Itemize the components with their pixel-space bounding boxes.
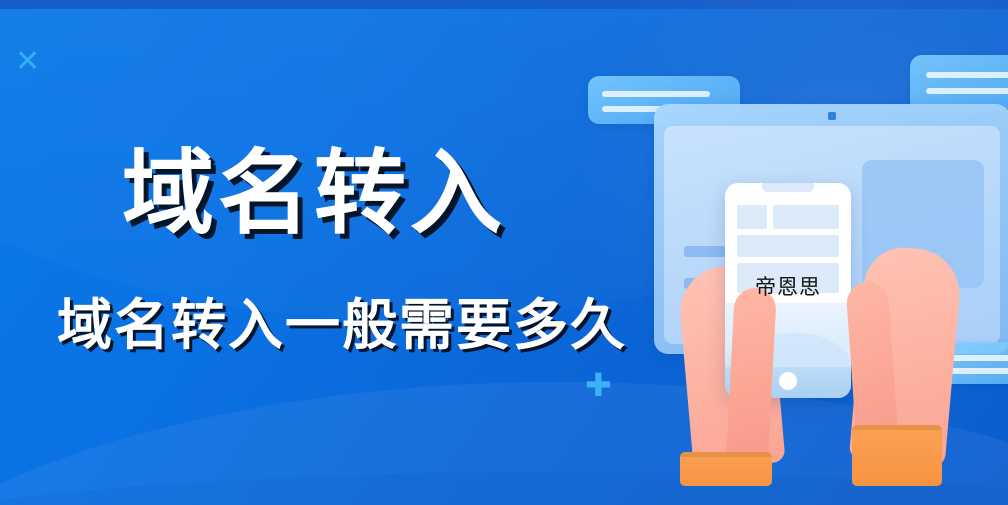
left-sleeve-shadow xyxy=(680,452,772,457)
card-line xyxy=(926,72,1008,78)
right-sleeve-shadow xyxy=(852,425,942,430)
page-subtitle: 域名转入一般需要多久 xyxy=(57,280,627,360)
illustration: 帝恩思 xyxy=(580,0,1008,505)
phone-content-block xyxy=(737,205,767,229)
card-line xyxy=(926,88,1008,94)
brand-label: 帝恩思 xyxy=(725,271,851,301)
right-sleeve xyxy=(852,425,942,486)
headline-block: 域名转入 域名转入一般需要多久 xyxy=(0,0,620,505)
phone-content-block xyxy=(737,235,839,257)
card-line xyxy=(602,91,710,97)
camera-icon xyxy=(828,112,836,120)
home-button-icon xyxy=(779,372,797,390)
promo-banner: ✕ ✚ 域名转入 域名转入一般需要多久 xyxy=(0,0,1008,505)
phone-content-block xyxy=(773,205,839,229)
left-sleeve xyxy=(680,452,772,486)
phone-notch xyxy=(762,183,814,192)
page-title: 域名转入 xyxy=(122,119,506,252)
